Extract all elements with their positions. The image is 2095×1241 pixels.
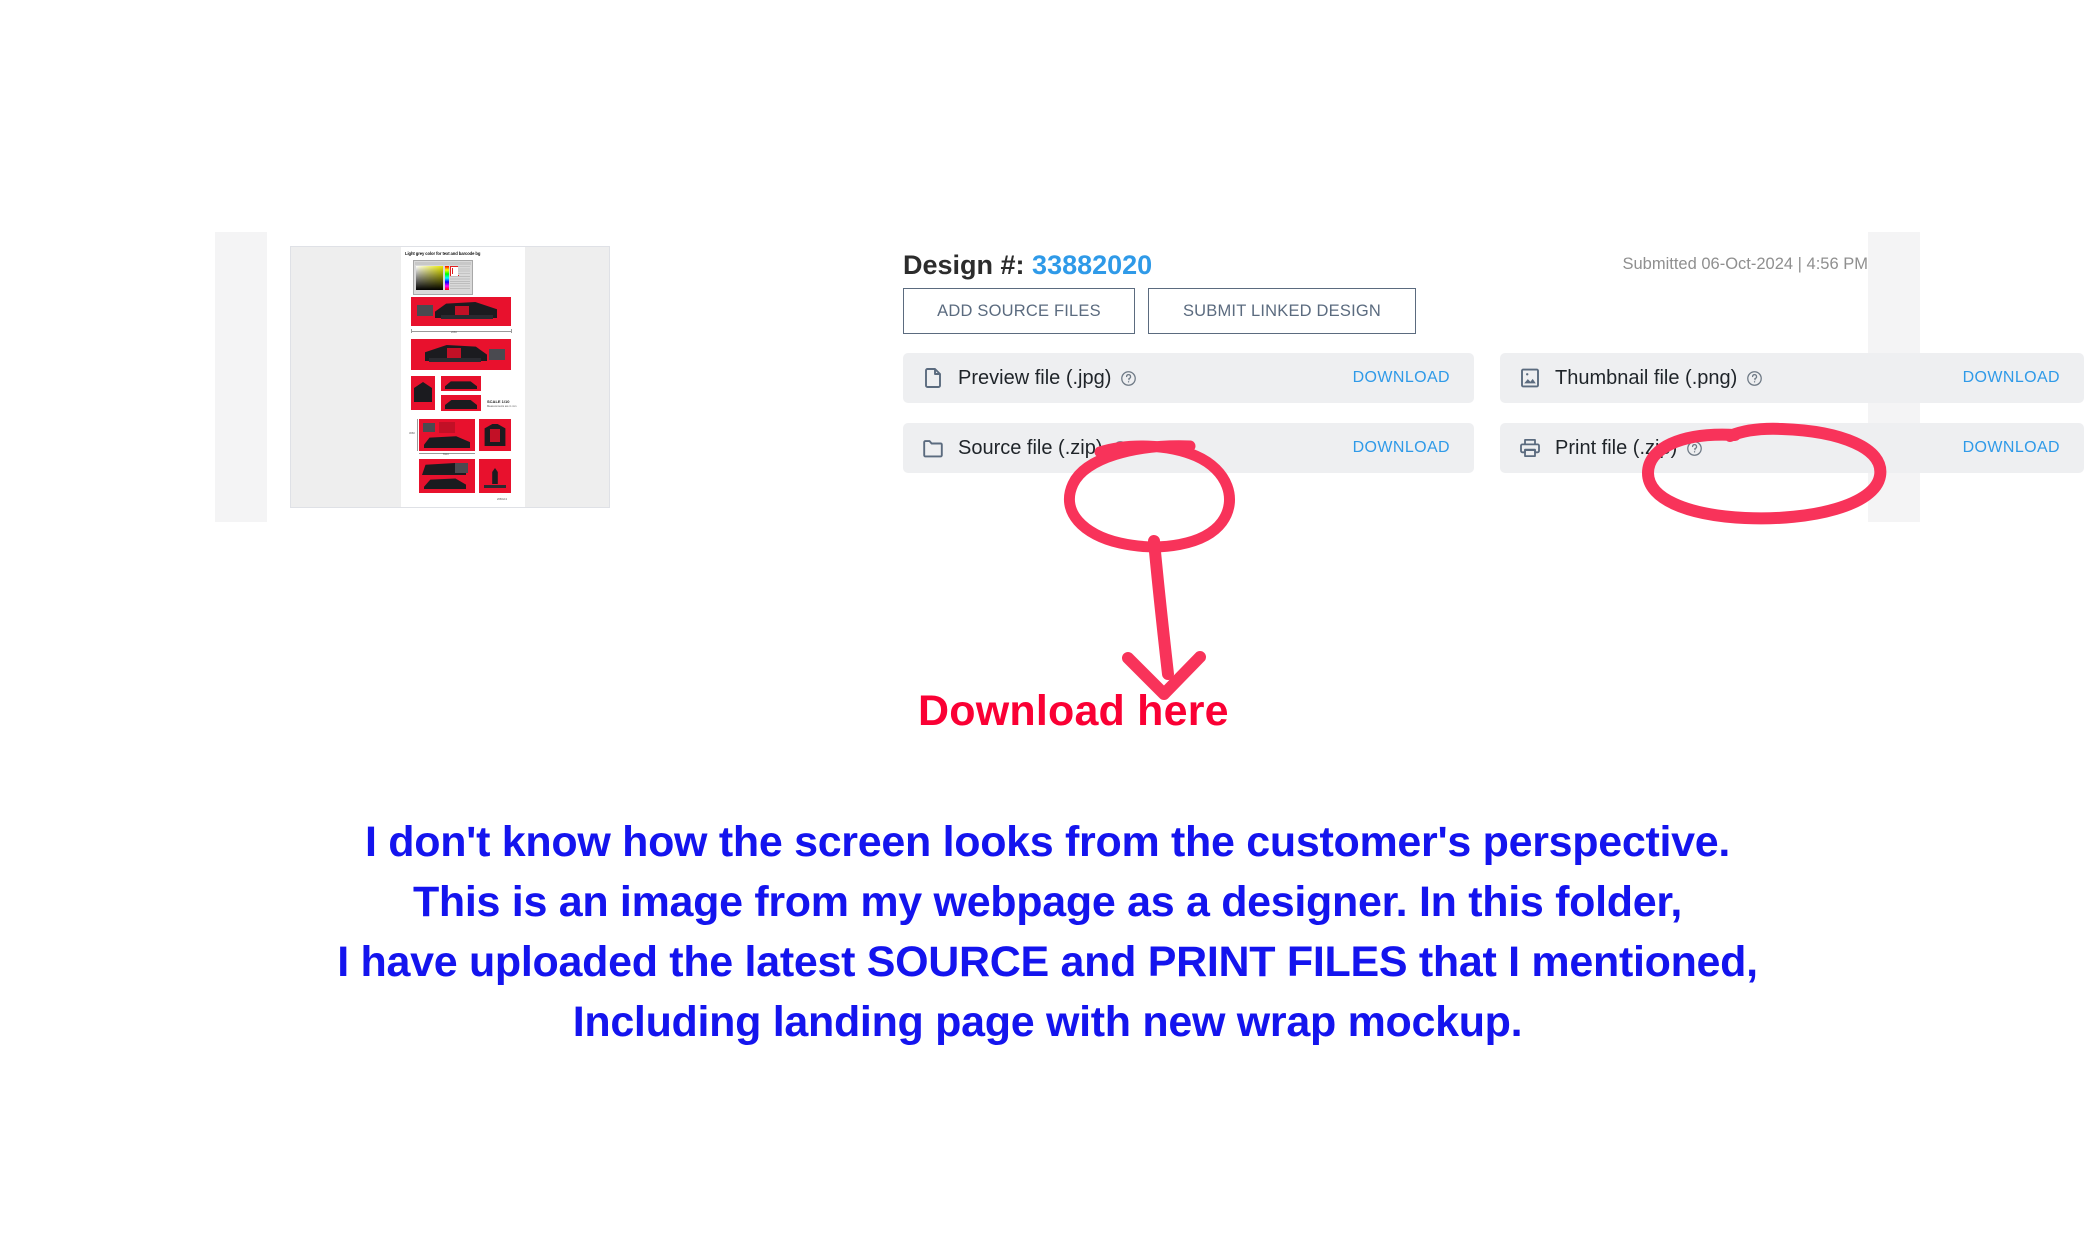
help-icon[interactable] xyxy=(1746,370,1763,387)
file-label: Thumbnail file (.png) xyxy=(1555,367,1737,390)
download-link[interactable]: DOWNLOAD xyxy=(1353,369,1450,387)
proof-band-2 xyxy=(411,339,511,370)
design-number-label: Design #: xyxy=(903,250,1025,280)
design-proof-sheet: Light grey color for text and barcode bg xyxy=(401,247,525,508)
image-icon xyxy=(1517,365,1543,391)
caption-line-2: This is an image from my webpage as a de… xyxy=(0,872,2095,932)
submitted-timestamp: Submitted 06-Oct-2024 | 4:56 PM xyxy=(1623,255,1869,274)
file-row-print[interactable]: Print file (.zip) DOWNLOAD xyxy=(1500,423,2084,473)
file-row-thumbnail[interactable]: Thumbnail file (.png) DOWNLOAD xyxy=(1500,353,2084,403)
design-thumbnail[interactable]: Light grey color for text and barcode bg xyxy=(290,246,610,508)
proof-band-8 xyxy=(419,459,475,493)
download-here-annotation-text: Download here xyxy=(918,687,1229,736)
caption-line-4: Including landing page with new wrap moc… xyxy=(0,992,2095,1052)
download-link[interactable]: DOWNLOAD xyxy=(1353,439,1450,457)
help-icon[interactable] xyxy=(1120,370,1137,387)
folder-icon xyxy=(920,435,946,461)
download-link[interactable]: DOWNLOAD xyxy=(1963,369,2060,387)
caption-line-1: I don't know how the screen looks from t… xyxy=(0,812,2095,872)
file-label: Preview file (.jpg) xyxy=(958,367,1111,390)
proof-band-5 xyxy=(441,395,481,411)
add-source-files-button[interactable]: ADD SOURCE FILES xyxy=(903,288,1135,334)
color-picker-screenshot xyxy=(413,260,473,295)
proof-band-7 xyxy=(479,419,511,451)
thumbnail-scale-note: SCALE 1/10 xyxy=(487,400,509,404)
submit-linked-design-button[interactable]: SUBMIT LINKED DESIGN xyxy=(1148,288,1416,334)
arrow-head-annotation xyxy=(1128,657,1200,694)
document-icon xyxy=(920,365,946,391)
proof-band-1 xyxy=(411,297,511,326)
help-icon[interactable] xyxy=(1686,440,1703,457)
file-label: Print file (.zip) xyxy=(1555,437,1677,460)
caption-line-3: I have uploaded the latest SOURCE and PR… xyxy=(0,932,2095,992)
file-label: Source file (.zip) xyxy=(958,437,1103,460)
printer-icon xyxy=(1517,435,1543,461)
arrow-shaft-annotation xyxy=(1154,541,1168,674)
proof-band-9 xyxy=(479,459,511,493)
design-number-heading: Design #: 33882020 xyxy=(903,250,1152,281)
thumbnail-corner-note: 2066x13 xyxy=(497,499,507,502)
left-grey-strip xyxy=(215,232,267,522)
design-card: Light grey color for text and barcode bg xyxy=(215,232,1920,522)
blue-caption-block: I don't know how the screen looks from t… xyxy=(0,812,2095,1052)
design-info-column: Design #: 33882020 Submitted 06-Oct-2024… xyxy=(684,232,1920,522)
file-row-source[interactable]: Source file (.zip) DOWNLOAD xyxy=(903,423,1474,473)
proof-band-6 xyxy=(419,419,475,451)
file-rows-grid: Preview file (.jpg) DOWNLOAD S xyxy=(903,353,2084,473)
proof-band-3 xyxy=(411,376,435,410)
help-icon[interactable] xyxy=(1112,440,1129,457)
proof-band-4 xyxy=(441,376,481,391)
file-row-preview[interactable]: Preview file (.jpg) DOWNLOAD xyxy=(903,353,1474,403)
thumbnail-caption: Light grey color for text and barcode bg xyxy=(405,252,521,256)
download-link[interactable]: DOWNLOAD xyxy=(1963,439,2060,457)
design-number-value[interactable]: 33882020 xyxy=(1032,250,1152,280)
